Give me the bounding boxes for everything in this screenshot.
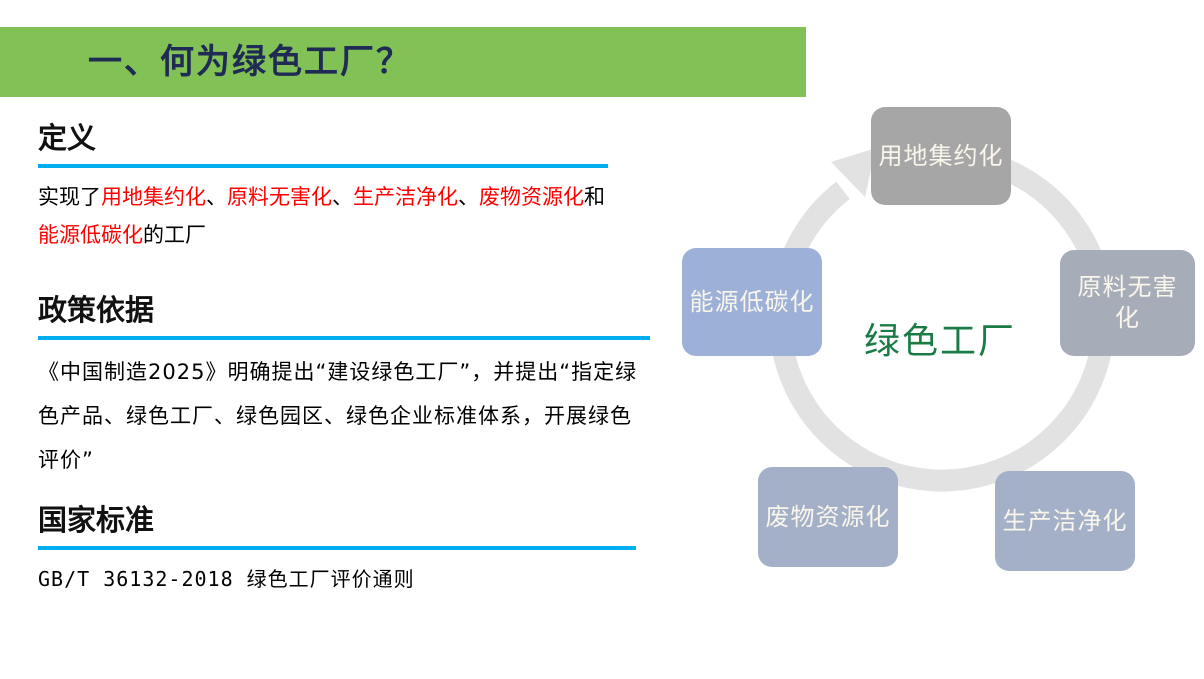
section-standard-body: GB/T 36132-2018 绿色工厂评价通则 xyxy=(38,560,636,598)
run-highlight-material: 原料无害化 xyxy=(227,185,332,209)
section-standard: 国家标准 GB/T 36132-2018 绿色工厂评价通则 xyxy=(38,500,636,598)
section-policy-body: 《中国制造2025》明确提出“建设绿色工厂”，并提出“指定绿色产品、绿色工厂、绿… xyxy=(38,350,650,482)
cycle-node-label: 生产洁净化 xyxy=(1003,506,1128,537)
page-title: 一、何为绿色工厂？ xyxy=(88,33,412,91)
run-highlight-energy: 能源低碳化 xyxy=(38,223,143,247)
cycle-node-waste-resource[interactable]: 废物资源化 xyxy=(758,467,898,567)
run-text: 、 xyxy=(458,185,479,209)
cycle-node-label: 原料无害化 xyxy=(1066,272,1189,334)
run-highlight-land: 用地集约化 xyxy=(101,185,206,209)
section-policy: 政策依据 《中国制造2025》明确提出“建设绿色工厂”，并提出“指定绿色产品、绿… xyxy=(38,290,650,482)
section-definition-body: 实现了用地集约化、原料无害化、生产洁净化、废物资源化和能源低碳化的工厂 xyxy=(38,178,608,254)
cycle-node-label: 废物资源化 xyxy=(766,502,891,533)
section-standard-rule xyxy=(38,546,636,550)
cycle-node-production-clean[interactable]: 生产洁净化 xyxy=(995,471,1135,571)
run-text: 、 xyxy=(206,185,227,209)
run-text: 实现了 xyxy=(38,185,101,209)
run-highlight-production: 生产洁净化 xyxy=(353,185,458,209)
section-policy-heading: 政策依据 xyxy=(38,290,650,330)
section-definition: 定义 实现了用地集约化、原料无害化、生产洁净化、废物资源化和能源低碳化的工厂 xyxy=(38,118,608,254)
cycle-node-material-harmless[interactable]: 原料无害化 xyxy=(1060,250,1195,356)
run-text: 和 xyxy=(584,185,605,209)
section-policy-rule xyxy=(38,336,650,340)
run-highlight-waste: 废物资源化 xyxy=(479,185,584,209)
cycle-node-label: 能源低碳化 xyxy=(690,287,815,318)
section-definition-rule xyxy=(38,164,608,168)
cycle-center-label: 绿色工厂 xyxy=(835,312,1045,364)
run-text: 的工厂 xyxy=(143,223,206,247)
slide-canvas: 一、何为绿色工厂？ 定义 实现了用地集约化、原料无害化、生产洁净化、废物资源化和… xyxy=(0,0,1204,679)
run-text: 、 xyxy=(332,185,353,209)
section-standard-heading: 国家标准 xyxy=(38,500,636,540)
section-definition-heading: 定义 xyxy=(38,118,608,158)
cycle-node-energy-lowcarbon[interactable]: 能源低碳化 xyxy=(682,248,822,356)
cycle-node-label: 用地集约化 xyxy=(879,141,1004,172)
cycle-node-land-intensive[interactable]: 用地集约化 xyxy=(871,107,1011,205)
cycle-diagram: 用地集约化 原料无害化 生产洁净化 废物资源化 能源低碳化 绿色工厂 xyxy=(660,90,1204,610)
